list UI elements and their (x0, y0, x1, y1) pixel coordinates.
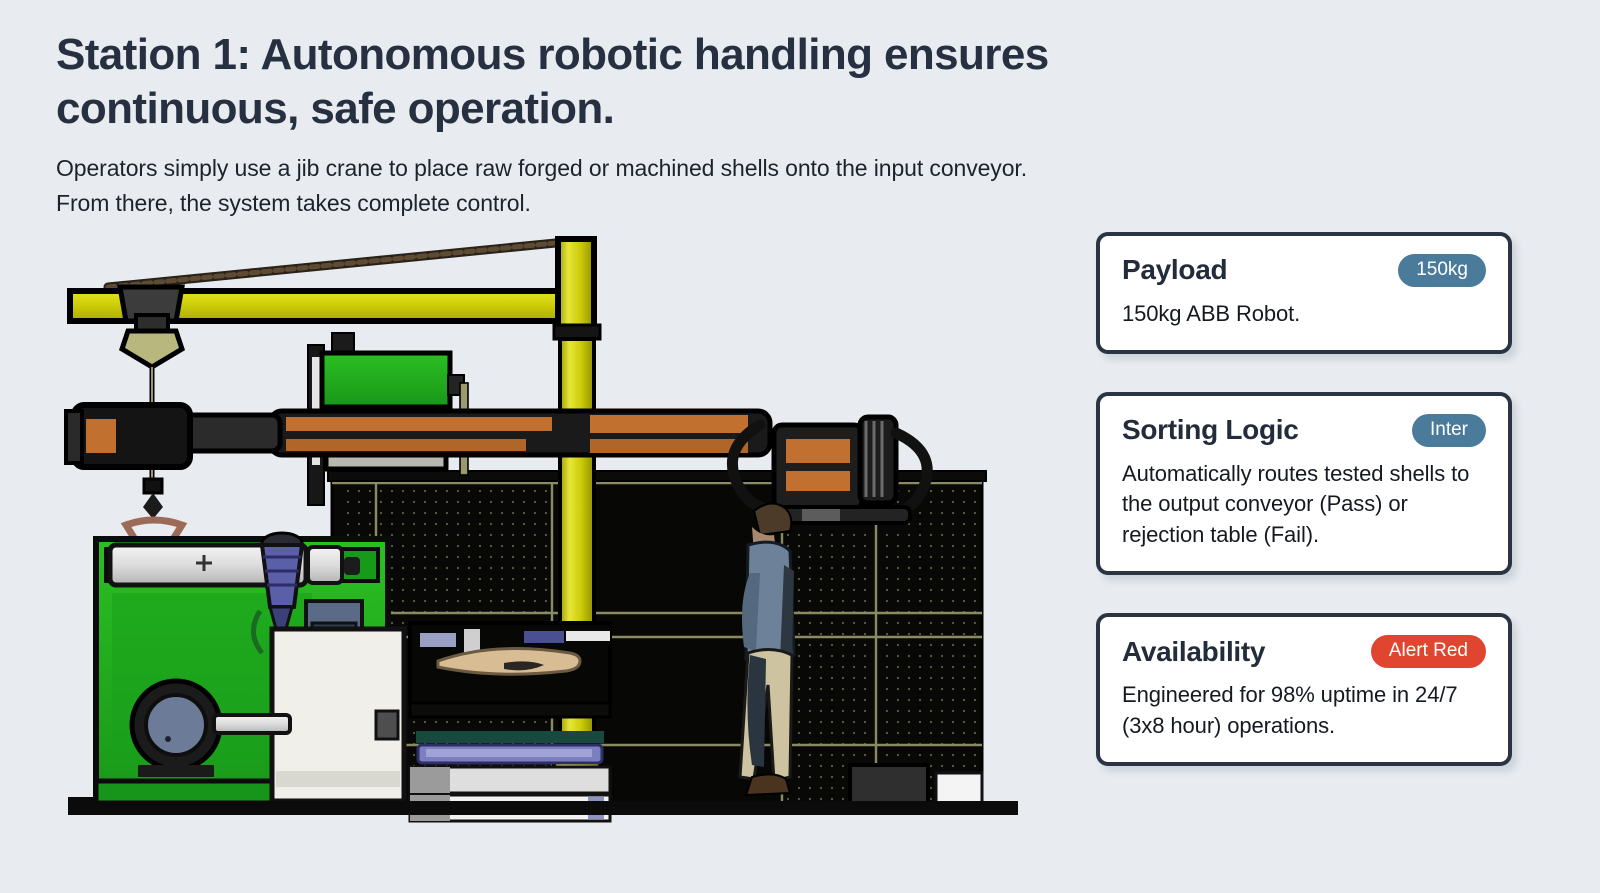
status-badge: 150kg (1398, 254, 1486, 287)
status-badge: Alert Red (1371, 635, 1486, 668)
crane-hook (143, 479, 163, 519)
spec-card-payload[interactable]: Payload 150kg 150kg ABB Robot. (1096, 232, 1512, 354)
spec-card-title: Sorting Logic (1122, 414, 1299, 446)
spec-card-title: Payload (1122, 254, 1227, 286)
spec-card-header: Availability Alert Red (1122, 635, 1486, 668)
spec-card-body: Engineered for 98% uptime in 24/7 (3x8 h… (1122, 680, 1486, 742)
status-badge: Inter (1412, 414, 1486, 447)
spec-card-sorting-logic[interactable]: Sorting Logic Inter Automatically routes… (1096, 392, 1512, 575)
page-subtitle: Operators simply use a jib crane to plac… (56, 151, 1056, 220)
spec-card-availability[interactable]: Availability Alert Red Engineered for 98… (1096, 613, 1512, 766)
spec-card-header: Payload 150kg (1122, 254, 1486, 287)
machine-cell-illustration (60, 225, 1060, 825)
slide-root: Station 1: Autonomous robotic handling e… (0, 0, 1600, 893)
header: Station 1: Autonomous robotic handling e… (56, 28, 1236, 220)
spec-card-body: Automatically routes tested shells to th… (1122, 459, 1486, 551)
page-title: Station 1: Autonomous robotic handling e… (56, 28, 1236, 135)
spec-card-header: Sorting Logic Inter (1122, 414, 1486, 447)
spec-card-list: Payload 150kg 150kg ABB Robot. Sorting L… (1096, 232, 1512, 766)
spec-card-body: 150kg ABB Robot. (1122, 299, 1486, 330)
green-machine-enclosure (96, 533, 404, 803)
spec-card-title: Availability (1122, 636, 1265, 668)
